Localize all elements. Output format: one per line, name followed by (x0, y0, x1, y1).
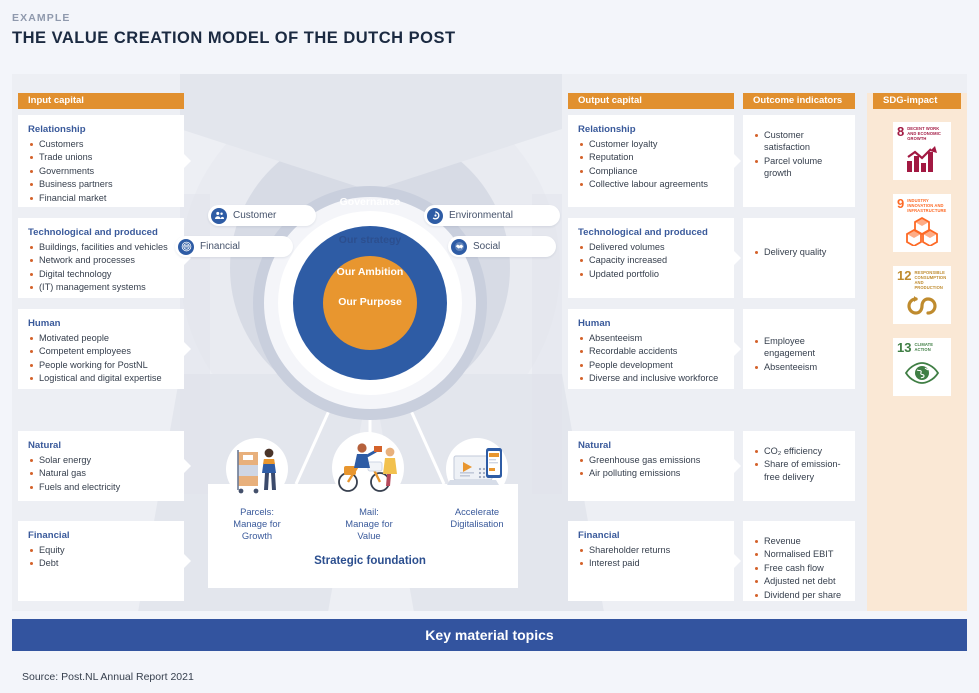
handshake-icon (451, 239, 467, 255)
growth-chart-icon (897, 141, 947, 177)
list-item: People working for PostNL (28, 359, 174, 371)
list-item: Reputation (578, 151, 724, 163)
card-outcome-natural: CO₂ efficiency Share of emission-free de… (743, 431, 855, 501)
mail-bike-icon (332, 432, 404, 504)
card-heading: Technological and produced (578, 227, 724, 238)
card-chevron-icon (734, 251, 741, 265)
list-item: Interest paid (578, 557, 724, 569)
card-list: Shareholder returns Interest paid (578, 544, 724, 570)
pill-customer[interactable]: Customer (208, 205, 316, 226)
list-item: Absenteeism (578, 332, 724, 344)
sdg-tile-head: 8 DECENT WORK AND ECONOMIC GROWTH (897, 126, 947, 141)
card-output-natural: Natural Greenhouse gas emissions Air pol… (568, 431, 734, 501)
card-chevron-icon (734, 154, 741, 168)
card-output-financial: Financial Shareholder returns Interest p… (568, 521, 734, 601)
value-creation-diagram: Governance Our strategy Our Ambition Our… (180, 86, 560, 606)
list-item: Updated portfolio (578, 268, 724, 280)
card-list: Customer loyalty Reputation Compliance C… (578, 138, 724, 191)
sdg-number: 9 (897, 198, 904, 209)
page-title: THE VALUE CREATION MODEL OF THE DUTCH PO… (12, 29, 456, 48)
key-material-topics-bar: Key material topics (12, 619, 967, 651)
card-list: Customers Trade unions Governments Busin… (28, 138, 174, 204)
page-header: EXAMPLE THE VALUE CREATION MODEL OF THE … (12, 12, 456, 48)
value-creation-model-page: EXAMPLE THE VALUE CREATION MODEL OF THE … (0, 0, 979, 693)
list-item: Business partners (28, 178, 174, 190)
list-item: Diverse and inclusive workforce (578, 372, 724, 384)
card-heading: Natural (578, 440, 724, 451)
list-item: Free cash flow (753, 562, 845, 574)
globe-eye-icon (897, 353, 947, 393)
list-item: Shareholder returns (578, 544, 724, 556)
sdg-number: 8 (897, 126, 904, 137)
list-item: Revenue (753, 535, 845, 547)
people-icon (211, 208, 227, 224)
list-item: Customers (28, 138, 174, 150)
card-heading: Human (28, 318, 174, 329)
pillar-digitalisation: Accelerate Digitalisation (429, 506, 525, 530)
card-outcome-financial: Revenue Normalised EBIT Free cash flow A… (743, 521, 855, 601)
pill-financial[interactable]: Financial (175, 236, 293, 257)
parcel-trolley-icon (226, 438, 288, 500)
pillar-line1: Accelerate (429, 506, 525, 518)
card-list: Employee engagement Absenteeism (753, 335, 845, 373)
list-item: Delivery quality (753, 246, 845, 258)
card-heading: Relationship (578, 124, 724, 135)
card-input-technological: Technological and produced Buildings, fa… (18, 218, 184, 298)
sdg-title: INDUSTRY INNOVATION AND INFRASTRUCTURE (907, 198, 947, 213)
list-item: CO₂ efficiency (753, 445, 845, 457)
sdg-tile-head: 9 INDUSTRY INNOVATION AND INFRASTRUCTURE (897, 198, 947, 213)
card-list: Customer satisfaction Parcel volume grow… (753, 129, 845, 180)
card-list: Buildings, facilities and vehicles Netwo… (28, 241, 174, 294)
column-header-output-capital: Output capital (568, 93, 734, 109)
card-heading: Financial (28, 530, 174, 541)
list-item: Dividend per share (753, 589, 845, 601)
list-item: Air polluting emissions (578, 467, 724, 479)
list-item: Logistical and digital expertise (28, 372, 174, 384)
card-heading: Natural (28, 440, 174, 451)
list-item: Fuels and electricity (28, 481, 174, 493)
list-item: Absenteeism (753, 361, 845, 373)
list-item: Trade unions (28, 151, 174, 163)
card-input-relationship: Relationship Customers Trade unions Gove… (18, 115, 184, 207)
sdg-tile-8: 8 DECENT WORK AND ECONOMIC GROWTH (893, 122, 951, 180)
strategic-foundation-label: Strategic foundation (180, 555, 560, 567)
card-chevron-icon (734, 342, 741, 356)
card-heading: Human (578, 318, 724, 329)
card-list: CO₂ efficiency Share of emission-free de… (753, 445, 845, 483)
list-item: Greenhouse gas emissions (578, 454, 724, 466)
column-header-outcome-indicators: Outcome indicators (743, 93, 855, 109)
pill-label: Social (473, 241, 500, 252)
card-list: Solar energy Natural gas Fuels and elect… (28, 454, 174, 493)
sdg-title: RESPONSIBLE CONSUMPTION AND PRODUCTION (914, 270, 947, 290)
list-item: Recordable accidents (578, 345, 724, 357)
card-output-human: Human Absenteeism Recordable accidents P… (568, 309, 734, 389)
card-outcome-technological: Delivery quality (743, 218, 855, 298)
card-list: Delivered volumes Capacity increased Upd… (578, 241, 724, 280)
card-list: Revenue Normalised EBIT Free cash flow A… (753, 535, 845, 601)
list-item: Financial market (28, 192, 174, 204)
list-item: Natural gas (28, 467, 174, 479)
pill-social[interactable]: Social (448, 236, 556, 257)
list-item: Solar energy (28, 454, 174, 466)
pillar-line1: Parcels: (209, 506, 305, 518)
recycle-icon (427, 208, 443, 224)
sdg-tile-head: 12 RESPONSIBLE CONSUMPTION AND PRODUCTIO… (897, 270, 947, 290)
sdg-tile-head: 13 CLIMATE ACTION (897, 342, 947, 353)
source-caption: Source: Post.NL Annual Report 2021 (22, 671, 194, 683)
list-item: Competent employees (28, 345, 174, 357)
list-item: Employee engagement (753, 335, 845, 360)
card-list: Greenhouse gas emissions Air polluting e… (578, 454, 724, 480)
card-output-relationship: Relationship Customer loyalty Reputation… (568, 115, 734, 207)
card-input-natural: Natural Solar energy Natural gas Fuels a… (18, 431, 184, 501)
list-item: Parcel volume growth (753, 155, 845, 180)
purpose-label: Our Purpose (180, 296, 560, 308)
list-item: Share of emission-free delivery (753, 458, 845, 483)
card-output-technological: Technological and produced Delivered vol… (568, 218, 734, 298)
list-item: Adjusted net debt (753, 575, 845, 587)
pillar-mail: Mail: Manage for Value (321, 506, 417, 542)
pillar-line2: Manage for (321, 518, 417, 530)
card-input-financial: Financial Equity Debt (18, 521, 184, 601)
pill-label: Financial (200, 241, 240, 252)
sdg-number: 12 (897, 270, 911, 281)
card-heading: Relationship (28, 124, 174, 135)
cubes-icon (897, 213, 947, 249)
list-item: Customer loyalty (578, 138, 724, 150)
card-chevron-icon (734, 554, 741, 568)
infinity-icon (897, 290, 947, 321)
pillar-line2: Digitalisation (429, 518, 525, 530)
list-item: Digital technology (28, 268, 174, 280)
list-item: Buildings, facilities and vehicles (28, 241, 174, 253)
list-item: Collective labour agreements (578, 178, 724, 190)
sdg-tile-13: 13 CLIMATE ACTION (893, 338, 951, 396)
card-list: Delivery quality (753, 246, 845, 258)
card-chevron-icon (734, 459, 741, 473)
pillar-line3: Growth (209, 530, 305, 542)
list-item: (IT) management systems (28, 281, 174, 293)
sdg-title: DECENT WORK AND ECONOMIC GROWTH (907, 126, 947, 141)
list-item: Capacity increased (578, 254, 724, 266)
pill-environmental[interactable]: Environmental (424, 205, 560, 226)
card-list: Motivated people Competent employees Peo… (28, 332, 174, 385)
list-item: Normalised EBIT (753, 548, 845, 560)
card-heading: Financial (578, 530, 724, 541)
pillar-line3: Value (321, 530, 417, 542)
list-item: People development (578, 359, 724, 371)
list-item: Motivated people (28, 332, 174, 344)
sdg-number: 13 (897, 342, 911, 353)
sdg-tile-9: 9 INDUSTRY INNOVATION AND INFRASTRUCTURE (893, 194, 951, 252)
ambition-label: Our Ambition (180, 266, 560, 278)
pillar-line2: Manage for (209, 518, 305, 530)
card-outcome-human: Employee engagement Absenteeism (743, 309, 855, 389)
column-header-input-capital: Input capital (18, 93, 184, 109)
pillar-parcels: Parcels: Manage for Growth (209, 506, 305, 542)
pill-label: Environmental (449, 210, 513, 221)
coin-icon (178, 239, 194, 255)
list-item: Delivered volumes (578, 241, 724, 253)
card-list: Absenteeism Recordable accidents People … (578, 332, 724, 385)
sdg-title: CLIMATE ACTION (914, 342, 947, 352)
list-item: Network and processes (28, 254, 174, 266)
list-item: Customer satisfaction (753, 129, 845, 154)
eyebrow-label: EXAMPLE (12, 12, 456, 24)
pill-label: Customer (233, 210, 276, 221)
column-header-sdg-impact: SDG-impact (873, 93, 961, 109)
pillar-line1: Mail: (321, 506, 417, 518)
list-item: Debt (28, 557, 174, 569)
list-item: Compliance (578, 165, 724, 177)
card-input-human: Human Motivated people Competent employe… (18, 309, 184, 389)
list-item: Equity (28, 544, 174, 556)
sdg-tile-12: 12 RESPONSIBLE CONSUMPTION AND PRODUCTIO… (893, 266, 951, 324)
card-list: Equity Debt (28, 544, 174, 570)
card-outcome-relationship: Customer satisfaction Parcel volume grow… (743, 115, 855, 207)
laptop-phone-icon (446, 438, 508, 500)
list-item: Governments (28, 165, 174, 177)
model-canvas: Input capital Relationship Customers Tra… (12, 74, 967, 611)
card-heading: Technological and produced (28, 227, 174, 238)
